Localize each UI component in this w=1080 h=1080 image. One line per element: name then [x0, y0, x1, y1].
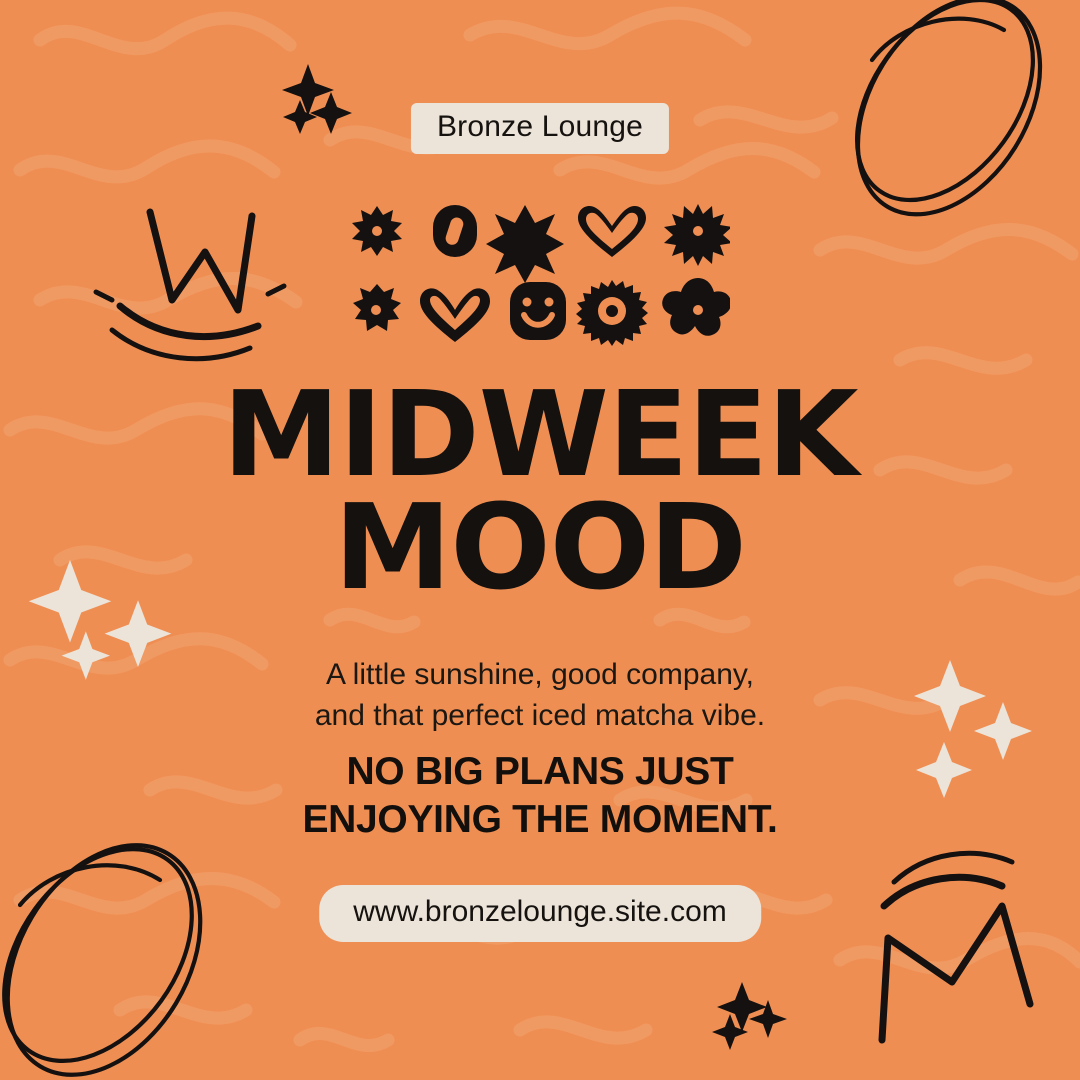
statement-line-2: ENJOYING THE MOMENT.: [0, 796, 1080, 844]
smiley-icon: [510, 282, 566, 340]
four-point-star-icon: [486, 205, 564, 283]
oval-outline-icon: [433, 205, 477, 257]
subcopy: A little sunshine, good company, and tha…: [0, 655, 1080, 736]
headline-line-1: MIDWEEK: [0, 378, 1080, 491]
sun-burst-icon: [664, 204, 730, 266]
headline-line-2: MOOD: [0, 491, 1080, 604]
subcopy-line-1: A little sunshine, good company,: [0, 655, 1080, 696]
star-flower-icon: [662, 278, 730, 336]
flower-icon: [352, 206, 402, 256]
heart-outline-icon: [578, 206, 646, 257]
statement-line-1: NO BIG PLANS JUST: [0, 748, 1080, 796]
website-url-pill[interactable]: www.bronzelounge.site.com: [319, 885, 761, 942]
headline: MIDWEEK MOOD: [0, 378, 1080, 605]
brand-badge: Bronze Lounge: [411, 103, 669, 154]
statement: NO BIG PLANS JUST ENJOYING THE MOMENT.: [0, 748, 1080, 843]
flower-small-icon: [353, 284, 401, 331]
subcopy-line-2: and that perfect iced matcha vibe.: [0, 696, 1080, 737]
poster-canvas: Bronze Lounge: [0, 0, 1080, 1080]
daisy-icon: [576, 280, 648, 346]
heart-icon: [420, 288, 490, 342]
doodle-icon-grid: [350, 200, 730, 350]
